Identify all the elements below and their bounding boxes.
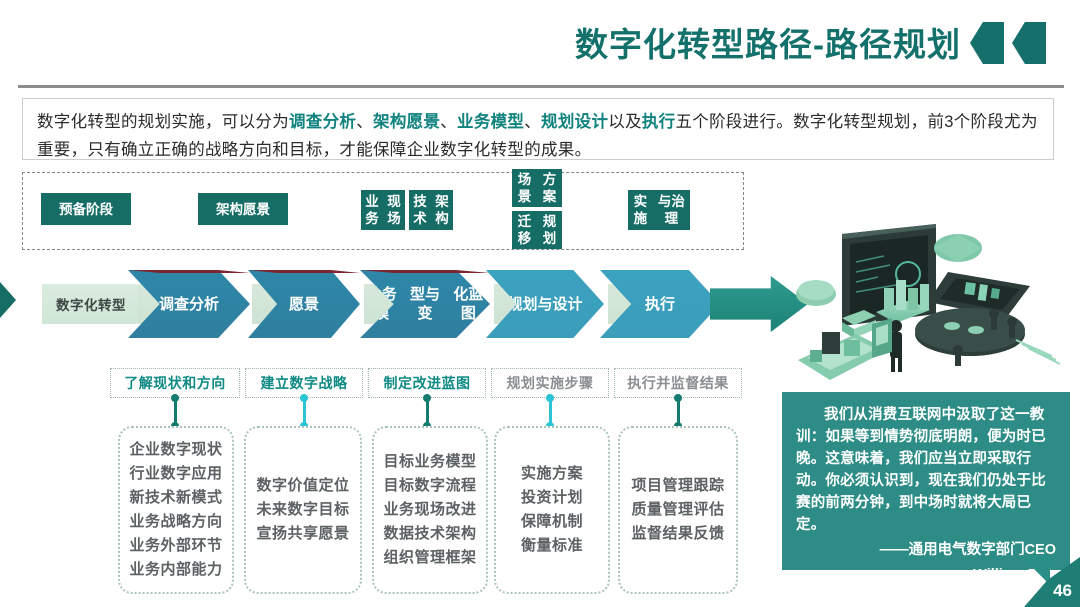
detail-item: 行业数字应用 <box>129 462 222 486</box>
connector-3 <box>426 398 429 426</box>
flow-start-text: 数字化转型 <box>56 294 126 314</box>
detail-item: 衡量标准 <box>521 534 583 558</box>
detail-item: 业务外部环节 <box>129 534 222 558</box>
intro-sep-3: 、 <box>524 113 541 131</box>
connector-4 <box>549 398 552 426</box>
mouse-icon <box>796 280 836 306</box>
kiosk-icon <box>872 318 892 358</box>
stage-box-business-scene: 业务现场 <box>361 190 405 230</box>
connector-5 <box>677 398 680 426</box>
detail-box-4: 实施方案投资计划保障机制衡量标准 <box>494 426 610 594</box>
detail-item: 监督结果反馈 <box>631 522 724 546</box>
flow-start-label: 数字化转型 <box>42 284 150 324</box>
process-flow: 数字化转型 调查分析愿景业务模型与变化蓝图规划与设计执行 <box>20 262 810 346</box>
illustration-svg <box>780 222 1072 394</box>
detail-item: 宣扬共享愿景 <box>256 522 349 546</box>
intro-sep-1: 、 <box>356 113 373 131</box>
intro-highlight-5: 执行 <box>642 113 676 131</box>
intro-panel: 数字化转型的规划实施，可以分为调查分析、架构愿景、业务模型、规划设计以及执行五个… <box>22 98 1054 160</box>
detail-item: 数字价值定位 <box>256 474 349 498</box>
detail-item: 业务战略方向 <box>129 510 222 534</box>
intro-highlight-1: 调查分析 <box>289 113 356 131</box>
chevron-left-icon <box>1012 22 1046 64</box>
connector-dot-top <box>171 394 179 402</box>
detail-item: 目标业务模型 <box>383 450 476 474</box>
intro-sep-2: 、 <box>440 113 457 131</box>
detail-item: 组织管理框架 <box>383 546 476 570</box>
connector-dot-top <box>300 394 308 402</box>
meeting-table-icon <box>915 308 1060 366</box>
connector-1 <box>174 398 177 426</box>
detail-item: 实施方案 <box>521 462 583 486</box>
intro-highlight-2: 架构愿景 <box>373 113 440 131</box>
stage-box-scenario-plan: 场景方案 <box>512 169 562 207</box>
intro-text-1: 数字化转型的规划实施，可以分为 <box>37 113 289 131</box>
connector-dot-top <box>423 394 431 402</box>
chevron-left-icon <box>970 22 1004 64</box>
detail-item: 投资计划 <box>521 486 583 510</box>
isometric-illustration <box>780 222 1072 394</box>
quote-attribution-line1: ——通用电气数字部门CEO <box>796 540 1056 561</box>
detail-item: 新技术新模式 <box>129 486 222 510</box>
detail-item: 未来数字目标 <box>256 498 349 522</box>
detail-item: 企业数字现状 <box>129 438 222 462</box>
detail-item: 保障机制 <box>521 510 583 534</box>
slide-root: 数字化转型路径-路径规划 数字化转型的规划实施，可以分为调查分析、架构愿景、业务… <box>0 0 1080 607</box>
intro-paragraph: 数字化转型的规划实施，可以分为调查分析、架构愿景、业务模型、规划设计以及执行五个… <box>37 108 1039 164</box>
quote-card: 我们从消费互联网中汲取了这一教训：如果等到情势彻底明朗，便为时已晚。这意味着，我… <box>782 392 1070 570</box>
cloud-icon <box>934 234 982 262</box>
quote-attribution-line2: William Ruh <box>796 565 1056 586</box>
page-number: 46 <box>1053 581 1072 601</box>
detail-item: 业务内部能力 <box>129 558 222 582</box>
detail-item: 业务现场改进 <box>383 498 476 522</box>
connector-2 <box>303 398 306 426</box>
header-chevron-group <box>970 22 1062 64</box>
detail-box-2: 数字价值定位未来数字目标宣扬共享愿景 <box>244 426 362 594</box>
connector-dot-top <box>674 394 682 402</box>
detail-item: 数据技术架构 <box>383 522 476 546</box>
page-title: 数字化转型路径-路径规划 <box>575 18 961 66</box>
stage-box-implementation-governance: 实施与治理 <box>628 190 690 230</box>
stage-box-architecture-vision: 架构愿景 <box>198 193 288 225</box>
header-divider <box>18 85 1064 88</box>
detail-item: 目标数字流程 <box>383 474 476 498</box>
left-edge-marker <box>0 282 16 318</box>
detail-box-1: 企业数字现状行业数字应用新技术新模式业务战略方向业务外部环节业务内部能力 <box>118 426 234 594</box>
stage-band: 预备阶段 架构愿景 业务现场 技术架构 场景方案 迁移规划 实施与治理 <box>22 172 744 250</box>
stage-box-preparation: 预备阶段 <box>41 193 131 225</box>
connector-dot-top <box>546 394 554 402</box>
intro-highlight-3: 业务模型 <box>457 113 524 131</box>
intro-highlight-4: 规划设计 <box>541 113 608 131</box>
detail-box-5: 项目管理跟踪质量管理评估监督结果反馈 <box>618 426 738 594</box>
detail-box-3: 目标业务模型目标数字流程业务现场改进数据技术架构组织管理框架 <box>372 426 488 594</box>
slide-header: 数字化转型路径-路径规划 <box>0 0 1080 86</box>
detail-item: 项目管理跟踪 <box>631 474 724 498</box>
stage-box-migration-plan: 迁移规划 <box>512 211 562 249</box>
stage-box-tech-architecture: 技术架构 <box>409 190 453 230</box>
intro-text-mid: 以及 <box>608 113 642 131</box>
detail-item: 质量管理评估 <box>631 498 724 522</box>
quote-text: 我们从消费互联网中汲取了这一教训：如果等到情势彻底明朗，便为时已晚。这意味着，我… <box>796 404 1056 536</box>
